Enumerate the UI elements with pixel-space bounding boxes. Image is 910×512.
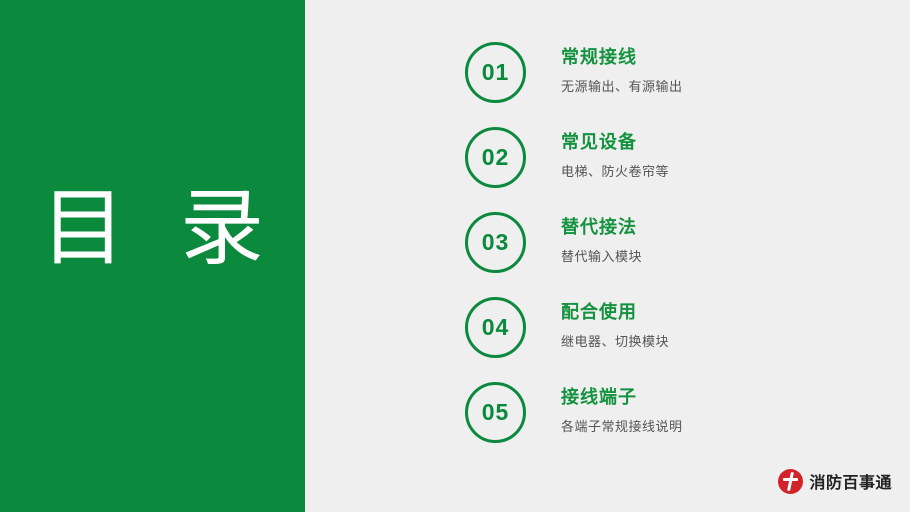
list-item[interactable]: 03 替代接法 替代输入模块 [465, 212, 885, 282]
toc-item-subtitle: 电梯、防火卷帘等 [561, 164, 669, 182]
toc-text-group: 替代接法 替代输入模块 [561, 216, 642, 267]
toc-text-group: 接线端子 各端子常规接线说明 [561, 386, 683, 437]
list-item[interactable]: 05 接线端子 各端子常规接线说明 [465, 382, 885, 452]
toc-number-badge: 03 [465, 212, 526, 273]
toc-item-title: 接线端子 [561, 386, 683, 410]
list-item[interactable]: 02 常见设备 电梯、防火卷帘等 [465, 127, 885, 197]
page-title: 目 录 [0, 186, 305, 270]
toc-number-badge: 05 [465, 382, 526, 443]
toc-item-title: 常见设备 [561, 131, 669, 155]
brand-logo: 消防百事通 [778, 468, 892, 494]
toc-item-title: 常规接线 [561, 46, 683, 70]
table-of-contents: 01 常规接线 无源输出、有源输出 02 常见设备 电梯、防火卷帘等 03 替代… [465, 42, 885, 452]
toc-text-group: 常见设备 电梯、防火卷帘等 [561, 131, 669, 182]
fire-safety-icon [778, 469, 803, 494]
presentation-slide: 目 录 01 常规接线 无源输出、有源输出 02 常见设备 电梯、防火卷帘等 0… [0, 0, 910, 512]
toc-number-badge: 01 [465, 42, 526, 103]
toc-item-title: 配合使用 [561, 301, 669, 325]
list-item[interactable]: 01 常规接线 无源输出、有源输出 [465, 42, 885, 112]
toc-item-subtitle: 无源输出、有源输出 [561, 79, 683, 97]
toc-item-subtitle: 替代输入模块 [561, 249, 642, 267]
toc-item-subtitle: 继电器、切换模块 [561, 334, 669, 352]
toc-text-group: 配合使用 继电器、切换模块 [561, 301, 669, 352]
list-item[interactable]: 04 配合使用 继电器、切换模块 [465, 297, 885, 367]
toc-number-badge: 04 [465, 297, 526, 358]
toc-number-badge: 02 [465, 127, 526, 188]
toc-item-subtitle: 各端子常规接线说明 [561, 419, 683, 437]
toc-item-title: 替代接法 [561, 216, 642, 240]
brand-name: 消防百事通 [809, 469, 892, 493]
toc-text-group: 常规接线 无源输出、有源输出 [561, 46, 683, 97]
left-green-panel: 目 录 [0, 0, 305, 512]
right-content-panel: 01 常规接线 无源输出、有源输出 02 常见设备 电梯、防火卷帘等 03 替代… [305, 0, 910, 512]
